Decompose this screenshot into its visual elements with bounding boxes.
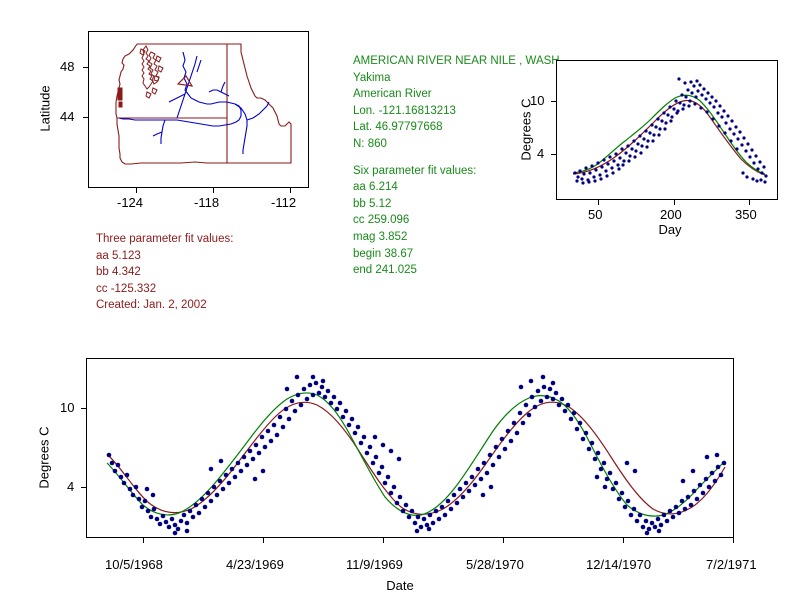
map-xticklabel--118: -118 <box>194 195 219 210</box>
ts-xtick-6 <box>733 538 734 543</box>
ts-ytick-4 <box>81 487 86 488</box>
ts-yticklabel-4: 4 <box>67 479 74 494</box>
map-ytick-48 <box>83 67 88 68</box>
ts-xlabel: Date <box>360 578 440 593</box>
day-ytick-10 <box>551 101 556 102</box>
ts-xticklabel-5: 12/14/1970 <box>586 557 651 572</box>
ts-xticklabel-4: 5/28/1970 <box>466 557 524 572</box>
ts-xtick-4 <box>503 538 504 543</box>
ts-xticklabel-2: 4/23/1969 <box>226 557 284 572</box>
station-title: AMERICAN RIVER NEAR NILE , WASH. <box>353 53 563 70</box>
map-xticklabel--112: -112 <box>271 195 296 210</box>
ts-xticklabel-1: 10/5/1968 <box>105 557 163 572</box>
day-xlabel: Day <box>620 222 720 237</box>
date-temperature-timeseries-chart <box>86 358 734 538</box>
map-ylabel: Latitude <box>38 74 53 144</box>
day-ylabel: Degrees C <box>519 80 534 180</box>
day-ytick-4 <box>551 154 556 155</box>
three-param-bb: bb 4.342 <box>96 264 233 281</box>
three-param-aa: aa 5.123 <box>96 248 233 265</box>
map-yticklabel-44: 44 <box>60 109 74 124</box>
day-yticklabel-4: 4 <box>537 146 544 161</box>
timeseries-points <box>107 375 727 536</box>
ts-ytick-10 <box>81 408 86 409</box>
six-param-begin: begin 38.67 <box>353 246 563 263</box>
map-ytick-44 <box>83 117 88 118</box>
map-xtick--118 <box>213 188 214 193</box>
six-param-end: end 241.025 <box>353 262 563 279</box>
day-plot-canvas <box>557 61 777 199</box>
three-param-cc: cc -125.332 <box>96 281 233 298</box>
day-xtick-350 <box>749 200 750 205</box>
day-plot-points <box>573 77 767 184</box>
ts-xtick-3 <box>383 538 384 543</box>
ts-xtick-1 <box>143 538 144 543</box>
ts-xtick-5 <box>623 538 624 543</box>
map-xtick--112 <box>290 188 291 193</box>
ts-ylabel: Degrees C <box>37 408 52 508</box>
three-parameter-fit-text: Three parameter fit values: aa 5.123 bb … <box>96 231 233 314</box>
ts-xtick-2 <box>263 538 264 543</box>
map-xticklabel--124: -124 <box>117 195 143 210</box>
day-xticklabel-50: 50 <box>588 207 602 222</box>
six-param-bb: bb 5.12 <box>353 196 563 213</box>
ts-yticklabel-10: 10 <box>60 400 74 415</box>
day-of-year-temperature-chart <box>556 60 778 200</box>
day-xticklabel-200: 200 <box>660 207 682 222</box>
six-param-aa: aa 6.214 <box>353 179 563 196</box>
ts-xticklabel-6: 7/2/1971 <box>706 557 757 572</box>
ts-xticklabel-3: 11/9/1969 <box>346 557 403 572</box>
station-location-map <box>88 31 309 188</box>
created-date: Created: Jan. 2, 2002 <box>96 297 233 314</box>
map-yticklabel-48: 48 <box>60 59 74 74</box>
map-canvas <box>89 32 308 187</box>
six-param-mag: mag 3.852 <box>353 229 563 246</box>
timeseries-canvas <box>87 359 733 537</box>
map-xtick--124 <box>136 188 137 193</box>
day-xtick-50 <box>598 200 599 205</box>
six-param-cc: cc 259.096 <box>353 212 563 229</box>
day-xtick-200 <box>674 200 675 205</box>
three-param-heading: Three parameter fit values: <box>96 231 233 248</box>
day-xticklabel-350: 350 <box>735 207 757 222</box>
